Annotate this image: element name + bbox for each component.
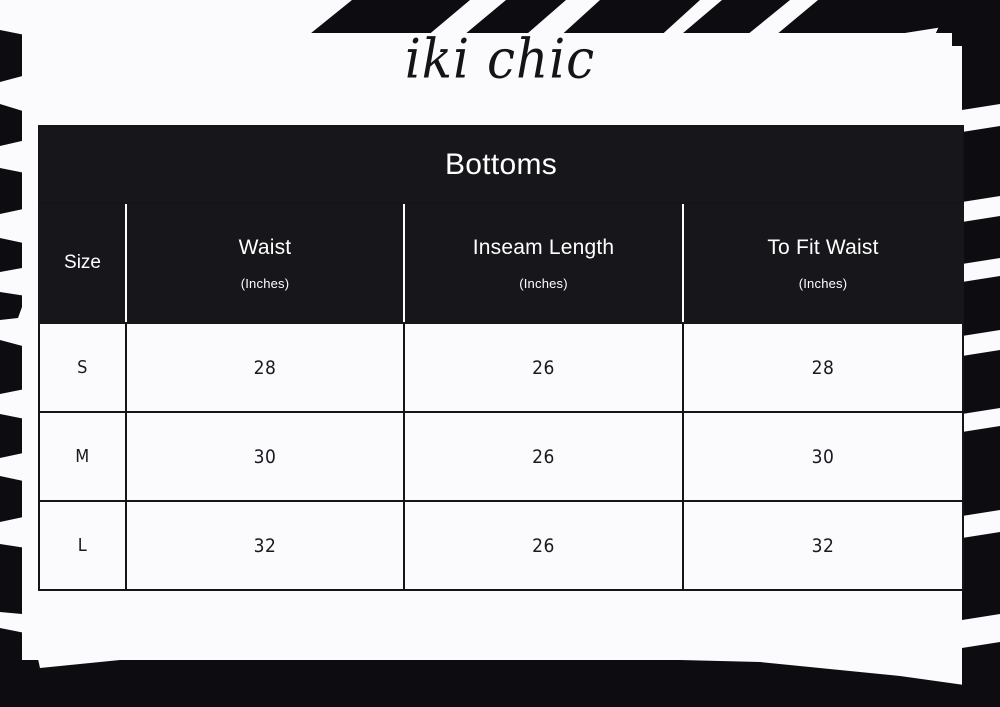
cell-size: S xyxy=(39,323,126,412)
cell-inseam: 26 xyxy=(404,412,683,501)
column-header-to-fit-waist-unit: (Inches) xyxy=(684,276,962,291)
cell-waist: 28 xyxy=(126,323,404,412)
column-header-size: Size xyxy=(39,203,126,323)
table-title: Bottoms xyxy=(39,126,963,203)
cell-to-fit-waist: 32 xyxy=(683,501,963,590)
size-chart-page: iki chic Bottoms Size Waist (I xyxy=(0,0,1000,707)
table-title-row: Bottoms xyxy=(39,126,963,203)
column-header-inseam: Inseam Length (Inches) xyxy=(404,203,683,323)
column-header-to-fit-waist-label: To Fit Waist xyxy=(684,236,962,260)
cell-size: M xyxy=(39,412,126,501)
table-row: S 28 26 28 xyxy=(39,323,963,412)
column-header-waist: Waist (Inches) xyxy=(126,203,404,323)
table-row: L 32 26 32 xyxy=(39,501,963,590)
cell-size: L xyxy=(39,501,126,590)
column-header-waist-label: Waist xyxy=(127,236,403,260)
table-header-row: Size Waist (Inches) Inseam Length (Inche… xyxy=(39,203,963,323)
cell-inseam: 26 xyxy=(404,323,683,412)
brand-logo: iki chic xyxy=(0,32,1000,86)
cell-waist: 30 xyxy=(126,412,404,501)
column-header-size-label: Size xyxy=(40,252,125,274)
cell-to-fit-waist: 28 xyxy=(683,323,963,412)
page-content: iki chic Bottoms Size Waist (I xyxy=(0,0,1000,707)
size-chart-table: Bottoms Size Waist (Inches) Inseam Lengt… xyxy=(38,125,964,591)
column-header-inseam-unit: (Inches) xyxy=(405,276,682,291)
column-header-waist-unit: (Inches) xyxy=(127,276,403,291)
cell-to-fit-waist: 30 xyxy=(683,412,963,501)
table-row: M 30 26 30 xyxy=(39,412,963,501)
column-header-inseam-label: Inseam Length xyxy=(405,236,682,260)
cell-waist: 32 xyxy=(126,501,404,590)
column-header-to-fit-waist: To Fit Waist (Inches) xyxy=(683,203,963,323)
cell-inseam: 26 xyxy=(404,501,683,590)
